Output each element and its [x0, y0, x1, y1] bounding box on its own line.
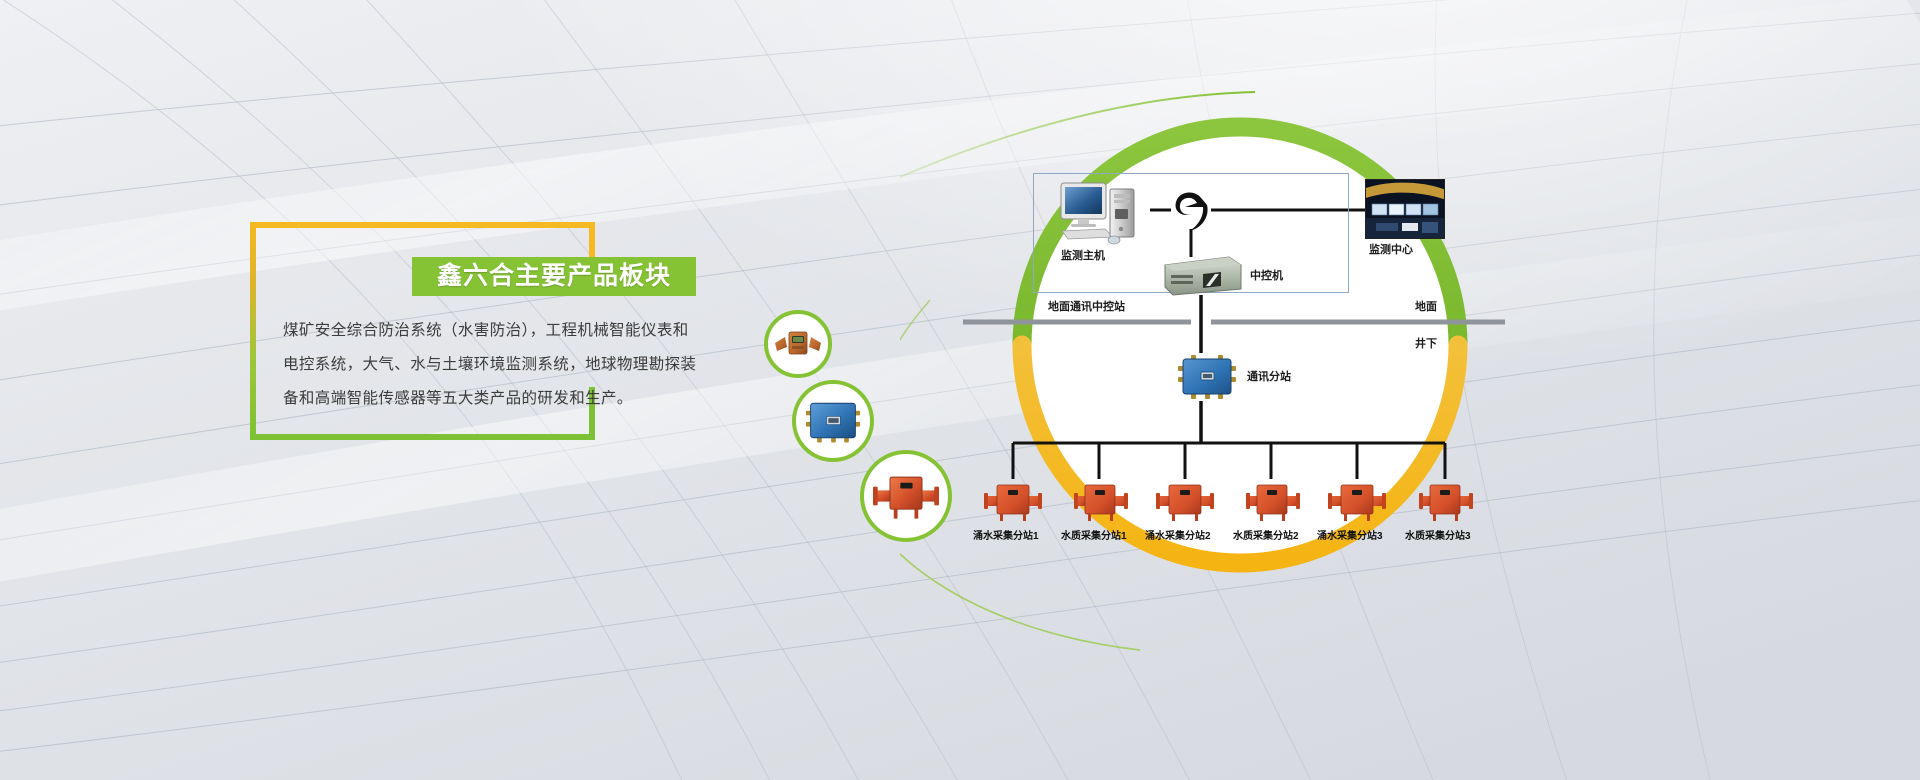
intro-paragraph: 煤矿安全综合防治系统（水害防治），工程机械智能仪表和 电控系统，大气、水与土壤环…: [283, 314, 713, 416]
flow-meter-icon: [984, 479, 1042, 523]
surface-zone-label: 地面: [1415, 302, 1437, 313]
screen-wall-icon: [1366, 180, 1445, 239]
comm-substation-label: 通讯分站: [1247, 372, 1291, 383]
e-logo-icon: [1171, 187, 1211, 233]
collection-station-device-4: [1243, 479, 1301, 523]
central-controller-device: [1159, 255, 1243, 297]
collection-station-device-3: [1156, 479, 1214, 523]
server-rack-icon: [1159, 255, 1243, 297]
comm-substation-device: [1177, 353, 1237, 401]
diagram-content: 监测主机 监测中心: [945, 95, 1535, 595]
product-bubble-sensor-device: [764, 310, 832, 378]
collection-station-device-2: [1071, 479, 1129, 523]
central-controller-label: 中控机: [1250, 271, 1283, 282]
collection-station-label-4: 水质采集分站2: [1233, 527, 1299, 542]
monitoring-center-label: 监测中心: [1369, 245, 1413, 256]
collection-station-label-2: 水质采集分站1: [1061, 527, 1127, 542]
page-title: 鑫六合主要产品板块: [437, 264, 671, 289]
intro-line-2: 电控系统，大气、水与土壤环境监测系统，地球物理勘探装: [283, 348, 713, 382]
monitoring-center-device: [1365, 179, 1445, 239]
flow-meter-icon: [1156, 479, 1214, 523]
surface-station-label: 地面通讯中控站: [1048, 302, 1125, 313]
product-bubble-blue-junction-box: [792, 380, 874, 462]
intro-line-1: 煤矿安全综合防治系统（水害防治），工程机械智能仪表和: [283, 314, 713, 348]
flow-meter-icon: [873, 471, 939, 521]
frame-border-top: [250, 222, 595, 228]
monitoring-host-device: [1058, 179, 1146, 247]
collection-station-label-1: 涌水采集分站1: [973, 527, 1039, 542]
collection-station-label-6: 水质采集分站3: [1405, 527, 1471, 542]
flow-meter-icon: [1243, 479, 1301, 523]
flow-meter-icon: [1416, 479, 1474, 523]
flow-meter-icon: [1071, 479, 1129, 523]
collection-station-label-5: 涌水采集分站3: [1317, 527, 1383, 542]
blue-junction-box-icon: [805, 398, 861, 444]
collection-station-device-6: [1416, 479, 1474, 523]
internet-cloud-icon: [1171, 187, 1211, 233]
collection-station-device-5: [1328, 479, 1386, 523]
frame-border-left: [250, 222, 256, 440]
collection-station-label-3: 涌水采集分站2: [1145, 527, 1211, 542]
flow-meter-icon: [1328, 479, 1386, 523]
computer-icon: [1058, 179, 1146, 247]
monitoring-host-label: 监测主机: [1061, 251, 1105, 262]
blue-junction-box-icon: [1177, 353, 1237, 401]
section-title-banner: 鑫六合主要产品板块: [412, 257, 696, 296]
underground-zone-label: 井下: [1415, 339, 1437, 350]
product-bubble-red-flow-meter: [860, 450, 952, 542]
intro-line-3: 备和高端智能传感器等五大类产品的研发和生产。: [283, 382, 713, 416]
system-diagram-illustration: 监测主机 监测中心: [900, 0, 1920, 780]
collection-station-device-1: [984, 479, 1042, 523]
frame-border-bottom: [250, 434, 595, 440]
intro-panel: 鑫六合主要产品板块 煤矿安全综合防治系统（水害防治），工程机械智能仪表和 电控系…: [250, 222, 595, 440]
sensor-device-icon: [775, 329, 821, 359]
